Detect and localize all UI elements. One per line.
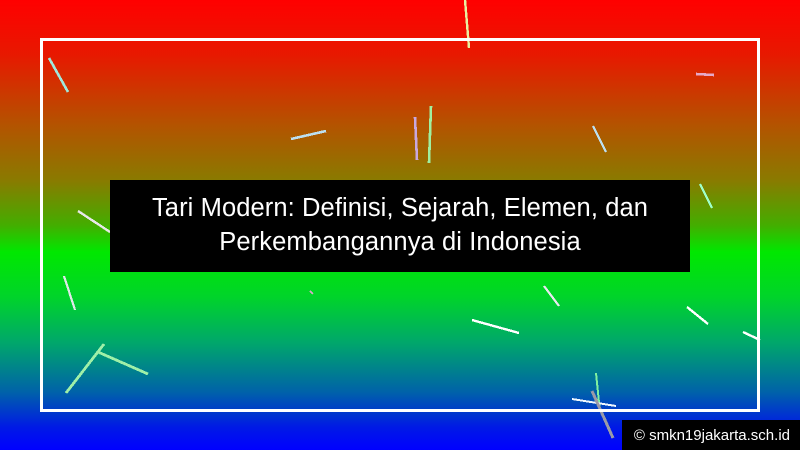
watermark-badge: © smkn19jakarta.sch.id [622, 420, 800, 450]
article-banner-image: Tari Modern: Definisi, Sejarah, Elemen, … [0, 0, 800, 450]
watermark-text: © smkn19jakarta.sch.id [634, 427, 790, 444]
page-title: Tari Modern: Definisi, Sejarah, Elemen, … [142, 192, 658, 259]
title-card: Tari Modern: Definisi, Sejarah, Elemen, … [110, 180, 690, 272]
